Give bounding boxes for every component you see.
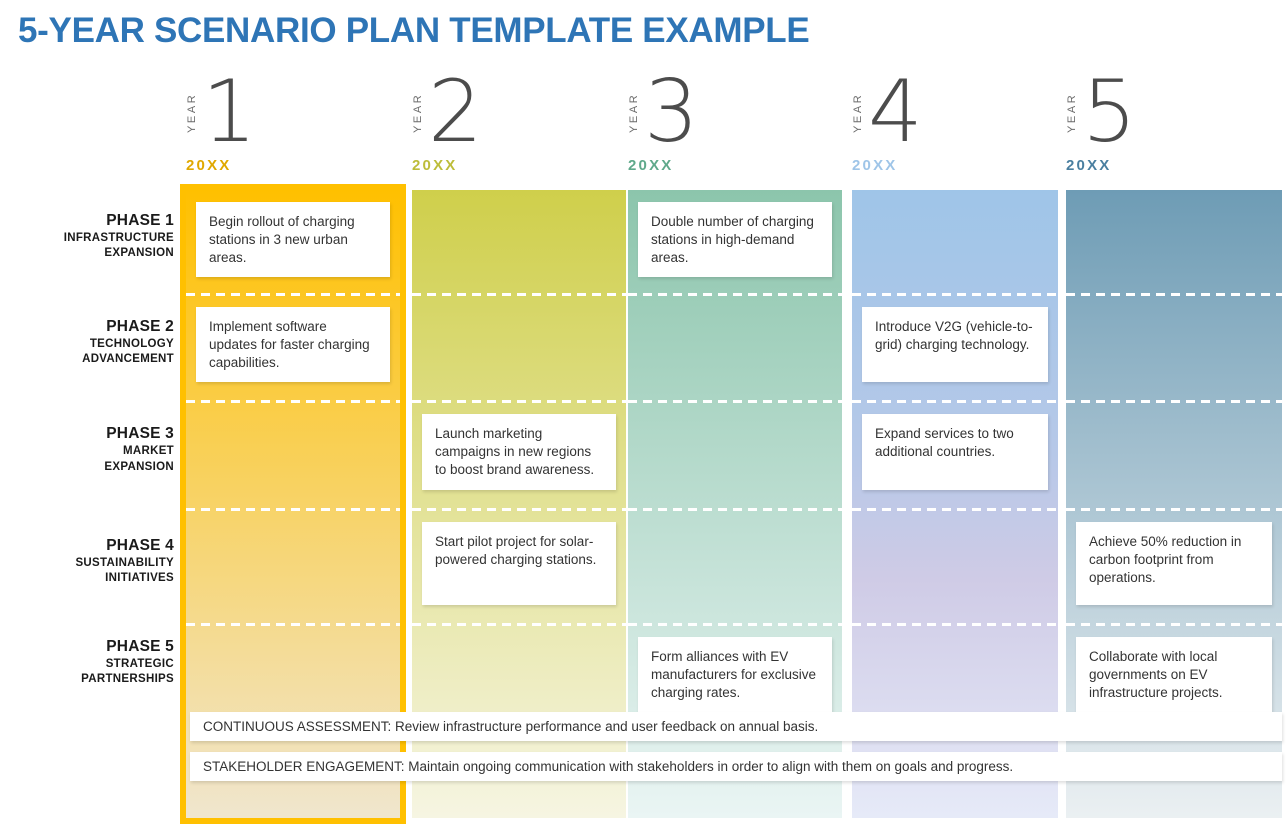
year-date-placeholder: 20XX	[852, 157, 898, 174]
row-divider-2	[852, 400, 1058, 403]
year-label-word: YEAR	[186, 93, 202, 155]
phase-subtitle: MARKETEXPANSION	[0, 444, 174, 475]
year-header-5: YEAR520XX	[1066, 85, 1282, 185]
year-date-placeholder: 20XX	[1066, 157, 1112, 174]
phase-label-4: PHASE 4SUSTAINABILITYINITIATIVES	[0, 537, 174, 587]
phase-title: PHASE 5	[0, 638, 174, 656]
row-divider-4	[852, 623, 1058, 626]
row-divider-1	[628, 293, 842, 296]
footer-banner-1[interactable]: CONTINUOUS ASSESSMENT: Review infrastruc…	[190, 712, 1282, 741]
phase-title: PHASE 3	[0, 425, 174, 443]
year-date-placeholder: 20XX	[412, 157, 458, 174]
year-header-1: YEAR120XX	[186, 85, 400, 185]
phase-subtitle: INFRASTRUCTUREEXPANSION	[0, 231, 174, 262]
row-divider-4	[1066, 623, 1282, 626]
footer-banner-2[interactable]: STAKEHOLDER ENGAGEMENT: Maintain ongoing…	[190, 752, 1282, 781]
year-label-word: YEAR	[1066, 93, 1082, 155]
row-divider-2	[186, 400, 400, 403]
milestone-card[interactable]: Launch marketing campaigns in new region…	[422, 414, 616, 490]
milestone-card[interactable]: Achieve 50% reduction in carbon footprin…	[1076, 522, 1272, 605]
milestone-card[interactable]: Collaborate with local governments on EV…	[1076, 637, 1272, 712]
row-divider-1	[1066, 293, 1282, 296]
year-number: 5	[1082, 69, 1137, 155]
row-divider-3	[1066, 508, 1282, 511]
row-divider-3	[186, 508, 400, 511]
phase-label-1: PHASE 1INFRASTRUCTUREEXPANSION	[0, 212, 174, 262]
phase-title: PHASE 2	[0, 318, 174, 336]
milestone-card[interactable]: Form alliances with EV manufacturers for…	[638, 637, 832, 712]
phase-title: PHASE 4	[0, 537, 174, 555]
row-divider-3	[628, 508, 842, 511]
milestone-card[interactable]: Introduce V2G (vehicle-to-grid) charging…	[862, 307, 1048, 382]
row-divider-4	[186, 623, 400, 626]
phase-label-5: PHASE 5STRATEGICPARTNERSHIPS	[0, 638, 174, 688]
row-divider-4	[628, 623, 842, 626]
milestone-card[interactable]: Expand services to two additional countr…	[862, 414, 1048, 490]
row-divider-2	[628, 400, 842, 403]
year-number: 2	[428, 69, 483, 155]
row-divider-3	[412, 508, 626, 511]
phase-subtitle: SUSTAINABILITYINITIATIVES	[0, 556, 174, 587]
row-divider-2	[1066, 400, 1282, 403]
phase-title: PHASE 1	[0, 212, 174, 230]
year-number: 3	[644, 69, 699, 155]
year-header-4: YEAR420XX	[852, 85, 1058, 185]
row-divider-4	[412, 623, 626, 626]
year-header-3: YEAR320XX	[628, 85, 842, 185]
phase-subtitle: STRATEGICPARTNERSHIPS	[0, 657, 174, 688]
phase-label-2: PHASE 2TECHNOLOGYADVANCEMENT	[0, 318, 174, 368]
milestone-card[interactable]: Begin rollout of charging stations in 3 …	[196, 202, 390, 277]
milestone-card[interactable]: Double number of charging stations in hi…	[638, 202, 832, 277]
year-date-placeholder: 20XX	[186, 157, 232, 174]
row-divider-3	[852, 508, 1058, 511]
phase-label-3: PHASE 3MARKETEXPANSION	[0, 425, 174, 475]
year-label-word: YEAR	[628, 93, 644, 155]
page-title: 5-YEAR SCENARIO PLAN TEMPLATE EXAMPLE	[18, 11, 809, 51]
row-divider-1	[852, 293, 1058, 296]
milestone-card[interactable]: Implement software updates for faster ch…	[196, 307, 390, 382]
year-date-placeholder: 20XX	[628, 157, 674, 174]
row-divider-1	[186, 293, 400, 296]
milestone-card[interactable]: Start pilot project for solar-powered ch…	[422, 522, 616, 605]
year-label-word: YEAR	[412, 93, 428, 155]
year-number: 4	[868, 69, 923, 155]
row-divider-1	[412, 293, 626, 296]
year-number: 1	[202, 69, 257, 155]
row-divider-2	[412, 400, 626, 403]
phase-subtitle: TECHNOLOGYADVANCEMENT	[0, 337, 174, 368]
year-label-word: YEAR	[852, 93, 868, 155]
year-header-2: YEAR220XX	[412, 85, 626, 185]
